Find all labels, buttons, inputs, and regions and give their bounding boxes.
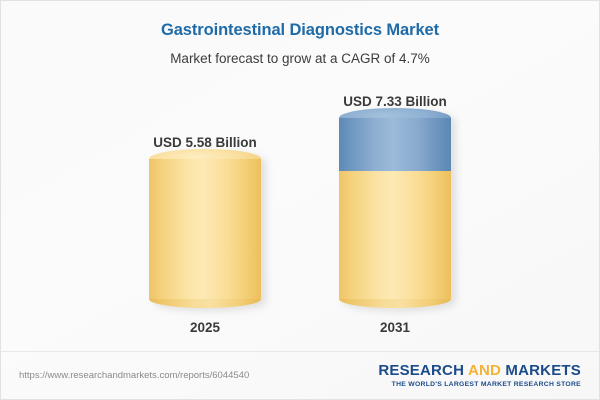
brand-logo[interactable]: RESEARCH AND MARKETS THE WORLD'S LARGEST… <box>378 363 581 388</box>
bar-group-2025: USD 5.58 Billion <box>146 135 264 299</box>
bar-group-2031: USD 7.33 Billion <box>336 94 454 299</box>
logo-word-and: AND <box>468 362 501 379</box>
cylinder-bar-2025[interactable] <box>149 159 261 299</box>
cylinder-body-2025 <box>149 159 261 299</box>
bar-segment-base-2031 <box>339 171 451 299</box>
logo-wordmark: RESEARCH AND MARKETS <box>378 363 581 379</box>
chart-plot-area: USD 5.58 Billion USD 7.33 Billion <box>1 86 599 341</box>
cylinder-body-growth-2031 <box>339 118 451 171</box>
bar-segment-growth-2031 <box>339 118 451 171</box>
cylinder-body-base-2031 <box>339 171 451 299</box>
source-url-link[interactable]: https://www.researchandmarkets.com/repor… <box>19 370 249 381</box>
bar-value-label-2031: USD 7.33 Billion <box>343 94 447 109</box>
logo-tagline: THE WORLD'S LARGEST MARKET RESEARCH STOR… <box>378 381 581 388</box>
x-axis-labels: 2025 2031 <box>1 320 599 335</box>
logo-word-markets: MARKETS <box>505 362 581 379</box>
x-axis-tick-2025: 2025 <box>146 320 264 335</box>
page-title: Gastrointestinal Diagnostics Market <box>1 21 599 40</box>
chart-header: Gastrointestinal Diagnostics Market Mark… <box>1 1 599 66</box>
x-axis-tick-2031: 2031 <box>336 320 454 335</box>
logo-word-research: RESEARCH <box>378 362 464 379</box>
chart-subtitle: Market forecast to grow at a CAGR of 4.7… <box>1 51 599 66</box>
cylinder-bar-2031[interactable] <box>339 118 451 299</box>
chart-footer: https://www.researchandmarkets.com/repor… <box>1 351 599 399</box>
bar-segment-base-2025 <box>149 159 261 299</box>
bar-series: USD 5.58 Billion USD 7.33 Billion <box>1 86 599 299</box>
chart-card: Gastrointestinal Diagnostics Market Mark… <box>0 0 600 400</box>
bar-value-label-2025: USD 5.58 Billion <box>153 135 257 150</box>
